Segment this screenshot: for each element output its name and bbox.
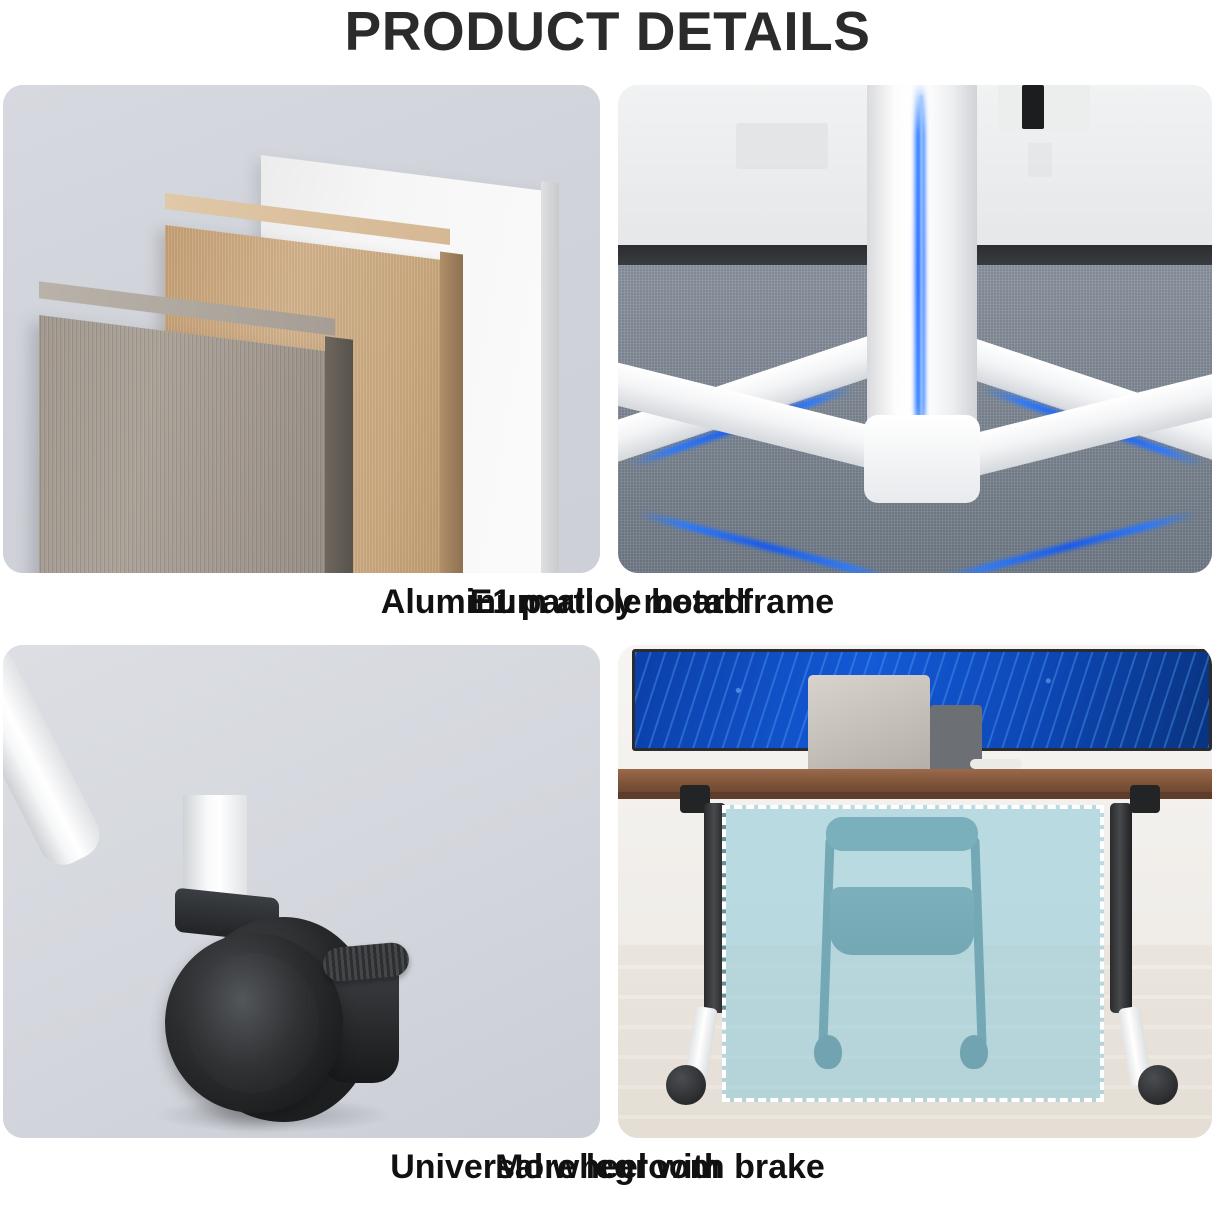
- wall-object-dark-strip: [1022, 85, 1044, 129]
- caption-more-legroom: More legroom: [0, 1148, 1215, 1187]
- page-title: PRODUCT DETAILS: [0, 0, 1215, 62]
- wall-object-left: [736, 123, 828, 169]
- wall-object-small: [1028, 143, 1052, 177]
- metal-frame-photo: [618, 85, 1212, 573]
- universal-wheel-photo: [3, 645, 600, 1138]
- caption-metal-frame: Aluminum alloy metal frame: [0, 583, 1215, 622]
- legroom-highlight-zone: [722, 805, 1104, 1102]
- column-glow-core: [920, 95, 923, 450]
- more-legroom-photo: [618, 645, 1212, 1138]
- frame-leg-hub: [864, 415, 980, 503]
- panel-more-legroom: [618, 645, 1212, 1138]
- desk-caster-left: [666, 1065, 706, 1105]
- gray-board: [39, 315, 335, 573]
- panel-universal-wheel: [3, 645, 600, 1138]
- wall-object-right: [998, 85, 1090, 131]
- white-board-edge: [541, 181, 559, 573]
- panel-metal-frame: [618, 85, 1212, 573]
- desk-bracket-right: [1130, 785, 1160, 813]
- product-details-page: PRODUCT DETAILS E1 particle board: [0, 0, 1215, 1205]
- mouse: [970, 759, 1022, 769]
- wheel-hub: [187, 953, 319, 1093]
- desk-caster-right: [1138, 1065, 1178, 1105]
- particle-board-photo: [3, 85, 600, 573]
- gray-board-edge: [325, 336, 353, 573]
- desk-leg-right: [1110, 803, 1132, 1013]
- panel-particle-board: [3, 85, 600, 573]
- laptop: [808, 675, 930, 771]
- panel-grid: E1 particle board: [0, 85, 1215, 1205]
- oak-board-edge: [440, 252, 463, 573]
